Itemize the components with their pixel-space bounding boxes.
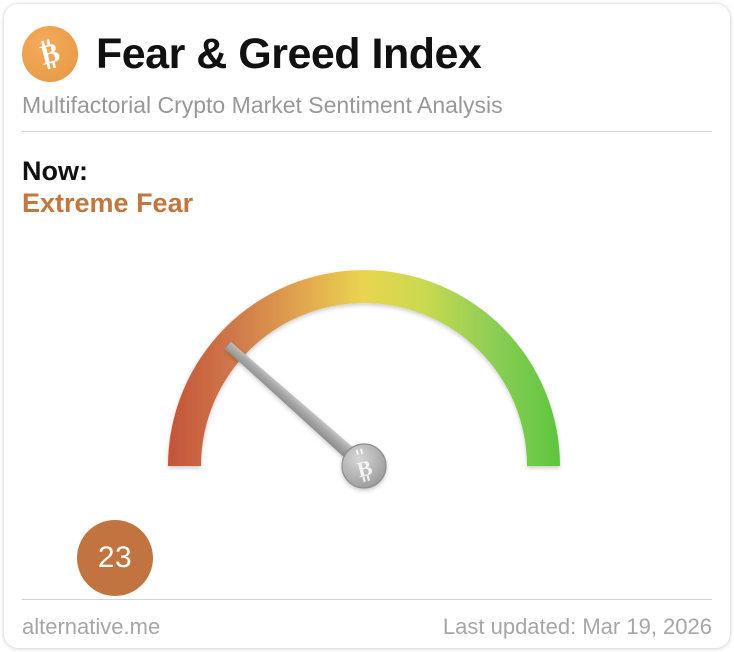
index-value: 23 <box>98 543 132 573</box>
header-divider <box>22 131 712 132</box>
gauge-chart: B 23 <box>4 229 730 574</box>
source-label: alternative.me <box>22 614 160 640</box>
page-title: Fear & Greed Index <box>96 33 481 76</box>
gauge-hub: B <box>342 444 386 488</box>
now-label: Now: <box>22 156 193 188</box>
status-classification: Extreme Fear <box>22 188 193 220</box>
fear-greed-index-card: B Fear & Greed Index Multifactorial Cryp… <box>4 4 730 648</box>
brand-row: B Fear & Greed Index <box>22 26 481 82</box>
current-status-block: Now: Extreme Fear <box>22 156 193 220</box>
footer-divider <box>22 599 712 600</box>
bitcoin-icon: B <box>22 26 78 82</box>
card-header: B Fear & Greed Index Multifactorial Cryp… <box>4 4 730 134</box>
gauge-arc <box>168 270 560 466</box>
page-subtitle: Multifactorial Crypto Market Sentiment A… <box>22 92 503 119</box>
last-updated-label: Last updated: Mar 19, 2026 <box>443 614 712 640</box>
index-value-badge: 23 <box>77 520 153 596</box>
